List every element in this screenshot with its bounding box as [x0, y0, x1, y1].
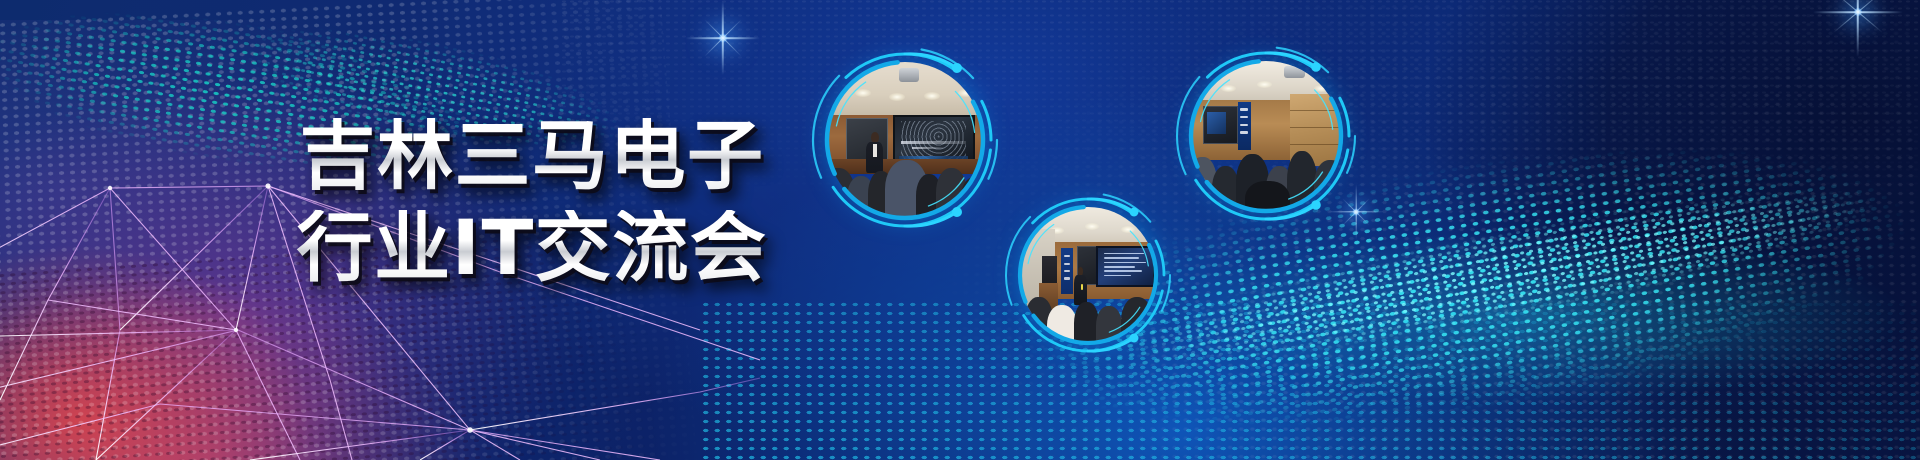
tech-ring-decoration [1000, 187, 1176, 363]
photo-circle-lecture-hall[interactable] [805, 40, 1005, 240]
tech-ring-decoration [805, 40, 1005, 240]
photo-circle-meeting-room[interactable] [1170, 40, 1362, 232]
banner-root: 吉林三马电子 行业IT交流会 [0, 0, 1920, 460]
banner-title: 吉林三马电子 行业IT交流会 [252, 118, 812, 286]
photo-circle-speaker-mic[interactable] [1000, 187, 1176, 363]
title-line-2: 行业IT交流会 [252, 210, 812, 286]
title-line-1: 吉林三马电子 [252, 118, 812, 194]
tech-ring-decoration [1170, 40, 1362, 232]
